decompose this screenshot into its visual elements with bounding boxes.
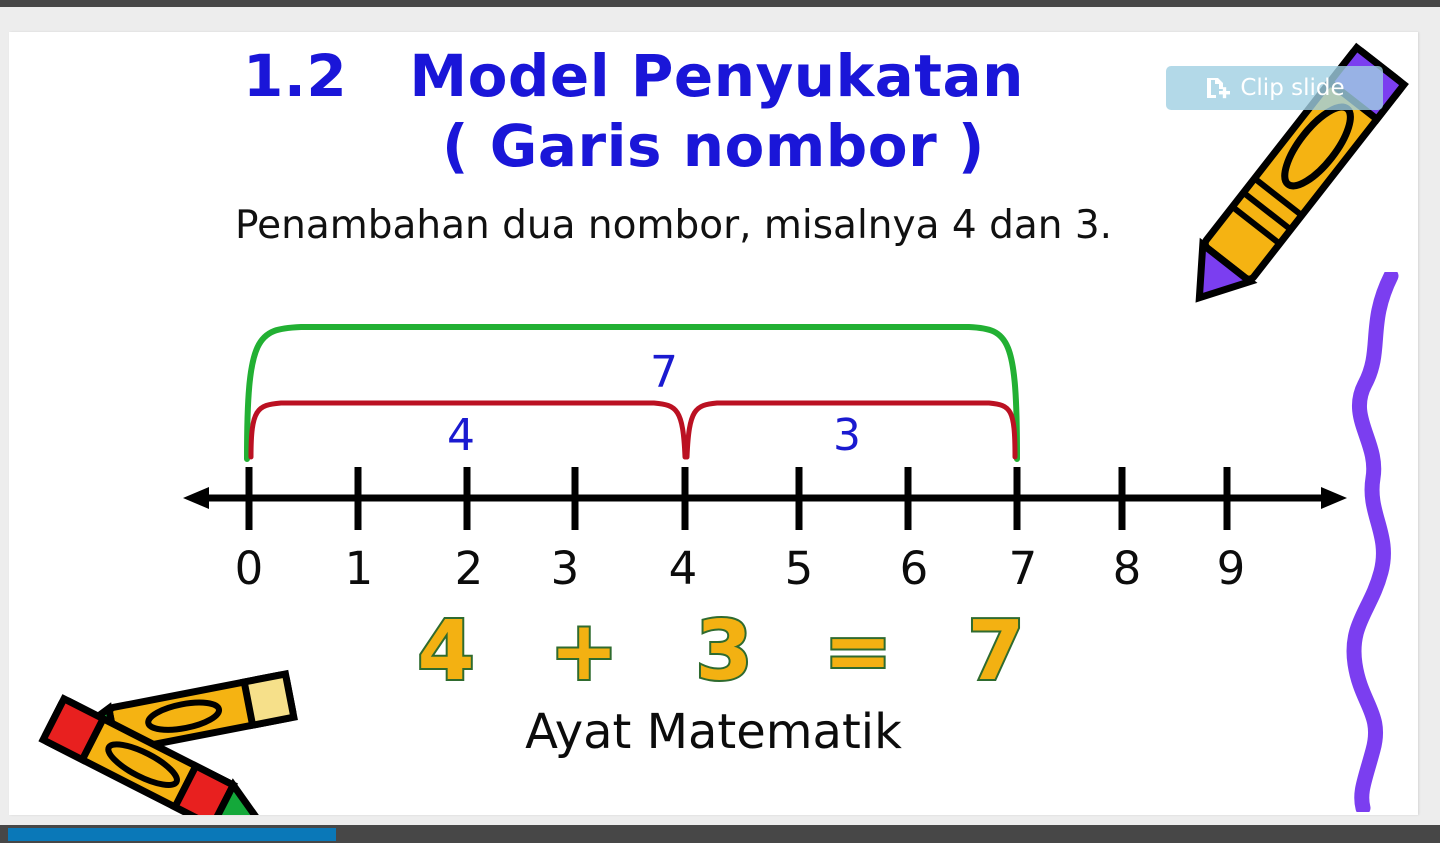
svg-text:8: 8 [1113, 542, 1142, 595]
math-sentence: 4 + 3 = 7 [9, 607, 1418, 695]
svg-text:4: 4 [669, 542, 698, 595]
second-addend-label: 3 [833, 410, 861, 461]
equation-right-operand: 3 [695, 607, 752, 695]
equation-equals: = [823, 607, 892, 695]
svg-text:3: 3 [551, 542, 580, 595]
subtitle-text: Penambahan dua nombor, misalnya 4 dan 3. [235, 202, 1185, 251]
clip-add-icon [1204, 75, 1230, 101]
svg-text:5: 5 [785, 542, 814, 595]
svg-text:2: 2 [455, 542, 484, 595]
equation-result: 7 [967, 607, 1024, 695]
axis-tick-labels: 0 1 2 3 4 5 6 7 8 9 [235, 542, 1246, 595]
svg-text:1: 1 [345, 542, 374, 595]
page-title-line-1: 1.2 Model Penyukatan [9, 42, 1338, 110]
number-line-figure: 7 4 3 0 1 2 3 4 5 6 7 [9, 287, 1418, 597]
first-addend-label: 4 [447, 410, 475, 461]
slide-canvas: 1.2 Model Penyukatan ( Garis nombor ) Pe… [9, 32, 1418, 815]
total-span-label: 7 [650, 347, 678, 398]
progress-bar-track[interactable] [0, 825, 1440, 843]
svg-text:0: 0 [235, 542, 264, 595]
caption-text: Ayat Matematik [9, 704, 1418, 760]
window-top-bar [0, 0, 1440, 7]
axis-arrow-right [1321, 487, 1347, 509]
equation-operator: + [549, 607, 618, 695]
clip-slide-button[interactable]: Clip slide [1166, 66, 1383, 110]
axis-arrow-left [183, 487, 209, 509]
equation-graphic: 4 + 3 = 7 [384, 607, 1044, 695]
page-title-line-2: ( Garis nombor ) [9, 112, 1418, 180]
svg-text:6: 6 [900, 542, 929, 595]
svg-text:9: 9 [1217, 542, 1246, 595]
equation-left-operand: 4 [417, 607, 474, 695]
total-span-arc [247, 327, 1017, 459]
progress-bar-fill [8, 828, 336, 841]
clip-slide-label: Clip slide [1240, 75, 1344, 101]
svg-text:7: 7 [1009, 542, 1038, 595]
